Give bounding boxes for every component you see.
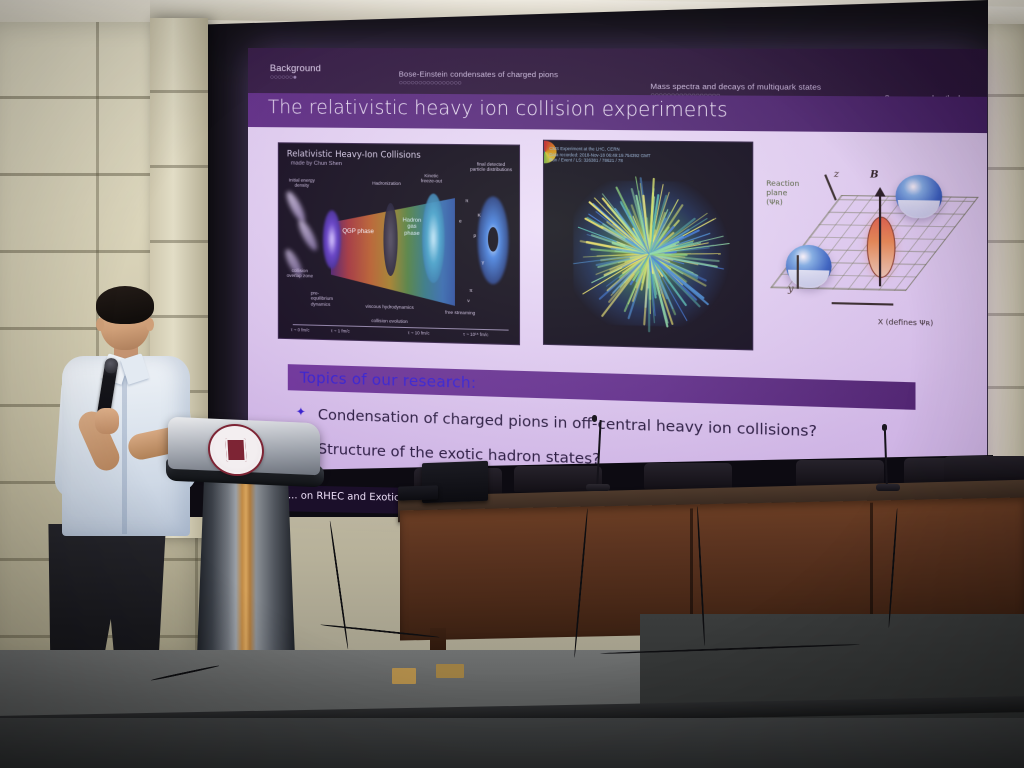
- nav-label: Mass spectra and decays of multiquark st…: [650, 83, 821, 92]
- figure1-label-final-detected: final detected particle distributions: [467, 161, 515, 172]
- table-microphone-base: [876, 484, 900, 491]
- topic-item-1: Condensation of charged pions in off-cen…: [318, 407, 817, 440]
- almond-overlap-region: [867, 216, 896, 278]
- axis-z-label: z: [834, 170, 839, 181]
- figure1-label-hadron-gas: Hadron gas phase: [398, 217, 427, 237]
- nav-label: Bose-Einstein condensates of charged pio…: [399, 70, 558, 79]
- cable-tape-marker: [436, 664, 464, 678]
- slide-nav-section-bec[interactable]: Bose-Einstein condensates of charged pio…: [399, 70, 558, 88]
- figure1-label-free-streaming: free streaming: [434, 309, 485, 316]
- table-microphone-base: [586, 484, 610, 491]
- figure1-label-viscous-hydro: viscous hydrodynamics: [353, 303, 426, 310]
- figure-reaction-plane: Reaction plane (Ψʀ) B z y X (defines Ψʀ): [766, 150, 964, 354]
- figure1-timeline-0: τ ~ 0 fm/c: [291, 327, 310, 333]
- figure1-label-qgp: QGP phase: [337, 229, 379, 237]
- bullet-star-icon-1: ✦: [296, 405, 306, 419]
- figure1-timeline-1: τ ~ 1 fm/c: [331, 328, 350, 334]
- b-field-label: B: [870, 170, 878, 181]
- speaker-hand-left: [95, 408, 119, 434]
- lecture-hall-photo: Background ○○○○○○● Bose-Einstein condens…: [0, 0, 1024, 768]
- axis-x-label: X (defines Ψʀ): [878, 318, 960, 329]
- nav-label: Background: [270, 63, 321, 74]
- figure1-timeline-3: τ ~ 10¹⁵ fm/c: [463, 332, 488, 338]
- magnetic-field-vector: [879, 189, 881, 286]
- reaction-plane-label: Reaction plane (Ψʀ): [766, 179, 827, 207]
- chair: [944, 456, 1024, 482]
- chair: [644, 463, 732, 489]
- figure1-timeline-2: τ ~ 10 fm/c: [408, 330, 430, 336]
- cable-tape-marker: [392, 668, 416, 684]
- figure1-label-initial-energy: Initial energy density: [285, 177, 319, 188]
- chair: [796, 460, 884, 486]
- nucleus-right: [896, 175, 943, 218]
- table-microphone-head: [592, 415, 597, 422]
- laptop-base: [398, 485, 438, 500]
- slide-title: The relativistic heavy ion collision exp…: [268, 97, 728, 121]
- nav-dots: ○○○○○○●: [270, 74, 321, 82]
- stage-front: [0, 718, 1024, 768]
- cms-caption: CMS Experiment at the LHC, CERN Data rec…: [549, 146, 650, 165]
- figure1-label-hadronization: Hadronization: [363, 180, 410, 186]
- speaker-ear-left: [96, 318, 104, 331]
- speaker-shirt-placket: [122, 376, 127, 534]
- figure1-label-collision-overlap: collision overlap zone: [281, 268, 319, 279]
- speaker-hair: [96, 286, 154, 324]
- nucleus-left: [786, 245, 832, 288]
- figure-heavy-ion-collision: Relativistic Heavy-Ion Collisions made b…: [278, 142, 520, 345]
- figure-cms-event-display: CMS Experiment at the LHC, CERN Data rec…: [543, 140, 753, 351]
- slide-body: Relativistic Heavy-Ion Collisions made b…: [248, 127, 987, 509]
- axis-y-arrow: [797, 255, 799, 289]
- figure1-label-kinetic-freezeout: Kinetic freeze-out: [414, 173, 449, 184]
- figure1-credit: made by Chun Shen: [291, 160, 342, 167]
- emblem-glyph: [225, 438, 246, 462]
- figure1-title: Relativistic Heavy-Ion Collisions: [287, 148, 421, 159]
- table-panel-seam: [870, 503, 873, 623]
- speaker-ear-right: [146, 318, 154, 331]
- nav-dots: ○○○○○○○○○○○○○○○○: [399, 80, 558, 89]
- axis-x-arrow: [832, 302, 894, 305]
- projection-screen[interactable]: Background ○○○○○○● Bose-Einstein condens…: [248, 48, 987, 509]
- axis-y-label: y: [788, 284, 794, 295]
- table-microphone-head: [882, 424, 887, 431]
- figure1-label-collision-evolution: collision evolution: [355, 318, 424, 325]
- table-panel-seam: [690, 508, 693, 628]
- slide-nav-section-background[interactable]: Background ○○○○○○●: [270, 63, 321, 82]
- figure1-label-pre-equilibrium: pre- equilibrium dynamics: [311, 290, 347, 307]
